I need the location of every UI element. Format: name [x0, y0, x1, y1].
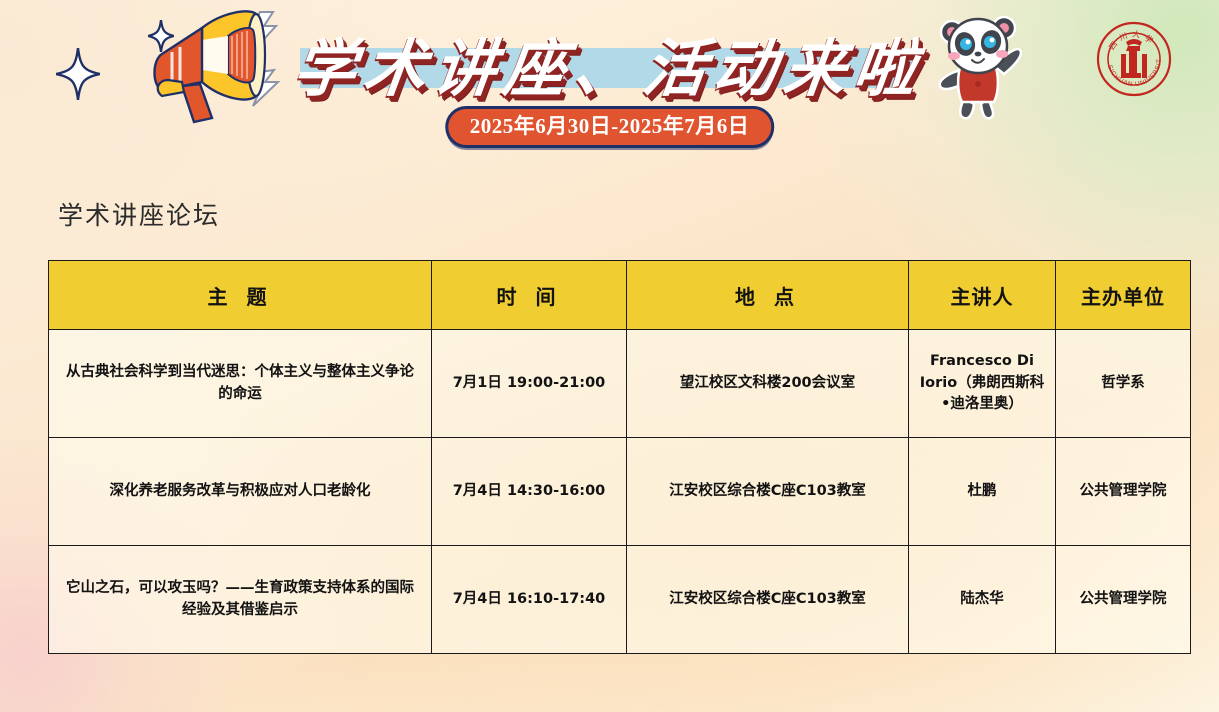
schedule-table-wrap: 主 题 时 间 地 点 主讲人 主办单位 从古典社会科学到当代迷思：个体主义与整… — [48, 260, 1190, 654]
cell-place: 江安校区综合楼C座C103教室 — [627, 438, 909, 546]
table-row: 深化养老服务改革与积极应对人口老龄化 7月4日 14:30-16:00 江安校区… — [49, 438, 1191, 546]
cell-time: 7月4日 16:10-17:40 — [432, 546, 627, 654]
logo-year: 1896 — [1128, 74, 1139, 80]
cell-place: 江安校区综合楼C座C103教室 — [627, 546, 909, 654]
date-range-badge: 2025年6月30日-2025年7月6日 — [445, 106, 775, 148]
cell-speaker: 陆杰华 — [909, 546, 1056, 654]
cell-organizer: 哲学系 — [1056, 330, 1191, 438]
cell-speaker: Francesco Di Iorio（弗朗西斯科•迪洛里奥） — [909, 330, 1056, 438]
column-header-speaker: 主讲人 — [909, 261, 1056, 330]
schedule-table: 主 题 时 间 地 点 主讲人 主办单位 从古典社会科学到当代迷思：个体主义与整… — [48, 260, 1191, 654]
poster-header: 学术讲座、活动来啦 2025年6月30日-2025年7月6日 — [0, 0, 1219, 165]
cell-organizer: 公共管理学院 — [1056, 546, 1191, 654]
table-row: 它山之石，可以攻玉吗？——生育政策支持体系的国际经验及其借鉴启示 7月4日 16… — [49, 546, 1191, 654]
cell-time: 7月1日 19:00-21:00 — [432, 330, 627, 438]
cell-topic: 深化养老服务改革与积极应对人口老龄化 — [49, 438, 432, 546]
column-header-organizer: 主办单位 — [1056, 261, 1191, 330]
cell-topic: 从古典社会科学到当代迷思：个体主义与整体主义争论的命运 — [49, 330, 432, 438]
panda-mascot-icon — [928, 6, 1028, 129]
page-title: 学术讲座、活动来啦 — [0, 18, 1219, 108]
cell-speaker: 杜鹏 — [909, 438, 1056, 546]
table-header-row: 主 题 时 间 地 点 主讲人 主办单位 — [49, 261, 1191, 330]
column-header-topic: 主 题 — [49, 261, 432, 330]
cell-organizer: 公共管理学院 — [1056, 438, 1191, 546]
column-header-time: 时 间 — [432, 261, 627, 330]
cell-topic: 它山之石，可以攻玉吗？——生育政策支持体系的国际经验及其借鉴启示 — [49, 546, 432, 654]
poster-page: 学术讲座、活动来啦 2025年6月30日-2025年7月6日 — [0, 0, 1219, 712]
cell-time: 7月4日 14:30-16:00 — [432, 438, 627, 546]
column-header-place: 地 点 — [627, 261, 909, 330]
table-row: 从古典社会科学到当代迷思：个体主义与整体主义争论的命运 7月1日 19:00-2… — [49, 330, 1191, 438]
cell-place: 望江校区文科楼200会议室 — [627, 330, 909, 438]
section-heading: 学术讲座论坛 — [58, 196, 220, 232]
sichuan-university-logo: 1896 四川大学 SICHUAN UNIVERSITY — [1095, 20, 1173, 103]
